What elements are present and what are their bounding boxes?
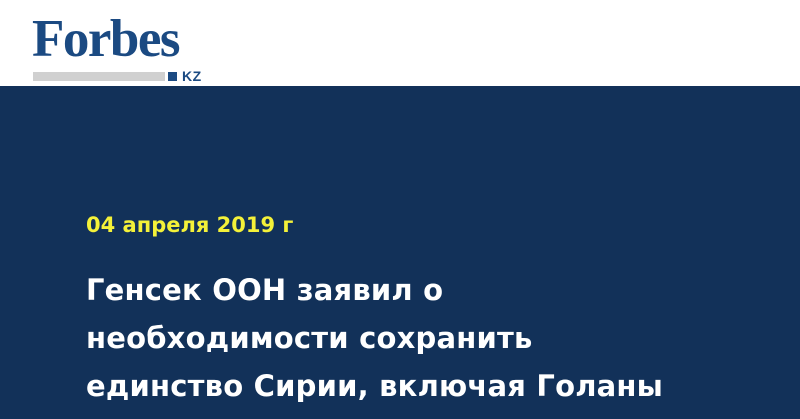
article-headline[interactable]: Генсек ООН заявил о необходимости сохран… bbox=[86, 266, 716, 410]
logo-square-icon bbox=[168, 72, 177, 81]
forbes-kz-logo[interactable]: Forbes KZ bbox=[32, 13, 232, 81]
logo-country-code: KZ bbox=[182, 69, 202, 83]
headline-line: единство Сирии, включая Голаны bbox=[86, 362, 716, 410]
forbes-wordmark: Forbes bbox=[32, 13, 179, 66]
headline-line: необходимости сохранить bbox=[86, 314, 716, 362]
headline-line: Генсек ООН заявил о bbox=[86, 266, 716, 314]
article-publish-date: 04 апреля 2019 г bbox=[86, 213, 293, 237]
article-cover-page: Forbes KZ 04 апреля 2019 г Генсек ООН за… bbox=[0, 0, 800, 419]
article-hero: 04 апреля 2019 г Генсек ООН заявил о нео… bbox=[0, 86, 800, 419]
logo-underline-bar bbox=[33, 72, 165, 81]
site-header: Forbes KZ bbox=[0, 0, 800, 86]
